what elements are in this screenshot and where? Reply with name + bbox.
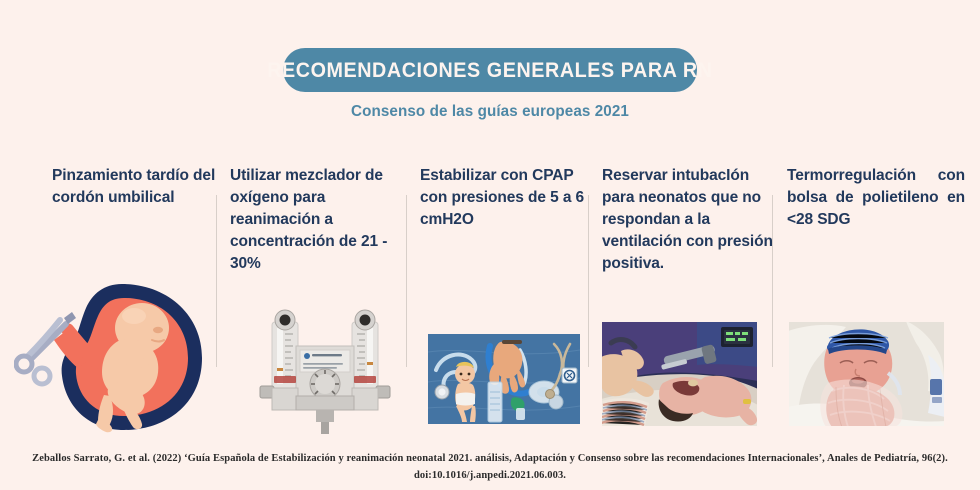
- recommendation-column-1: Pinzamiento tardío del cordón umbilical: [52, 165, 230, 209]
- fetus-in-womb-with-cord-clamp-illustration: [14, 278, 206, 436]
- cpap-training-setup-photo: [428, 334, 580, 424]
- preterm-newborn-in-polyethylene-bag-photo: [788, 321, 945, 427]
- infographic-slide: RECOMENDACIONES GENERALES PARA RN Consen…: [0, 0, 980, 490]
- title-pill: RECOMENDACIONES GENERALES PARA RN: [283, 48, 697, 92]
- page-subtitle: Consenso de las guías europeas 2021: [25, 103, 956, 121]
- recommendation-column-4: Reservar intubacIón para neonatos que no…: [602, 165, 780, 275]
- page-title: RECOMENDACIONES GENERALES PARA RN: [267, 60, 712, 81]
- recommendation-heading: Estabilizar con CPAP con presiones de 5 …: [420, 165, 598, 231]
- recommendation-heading: Pinzamiento tardío del cordón umbilical: [52, 165, 230, 209]
- source-citation: Zeballos Sarrato, G. et al. (2022) ‘Guía…: [28, 450, 952, 484]
- neonatal-intubation-photo: [601, 321, 758, 427]
- recommendation-column-3: Estabilizar con CPAP con presiones de 5 …: [420, 165, 598, 231]
- recommendation-column-2: Utilizar mezclador de oxígeno para reani…: [230, 165, 408, 275]
- oxygen-air-blender-photo: [254, 308, 396, 434]
- recommendation-heading: Termorregulación con bolsa de polietilen…: [787, 165, 965, 231]
- recommendation-heading: Utilizar mezclador de oxígeno para reani…: [230, 165, 408, 275]
- recommendation-column-5: Termorregulación con bolsa de polietilen…: [787, 165, 965, 231]
- recommendation-heading: Reservar intubacIón para neonatos que no…: [602, 165, 780, 275]
